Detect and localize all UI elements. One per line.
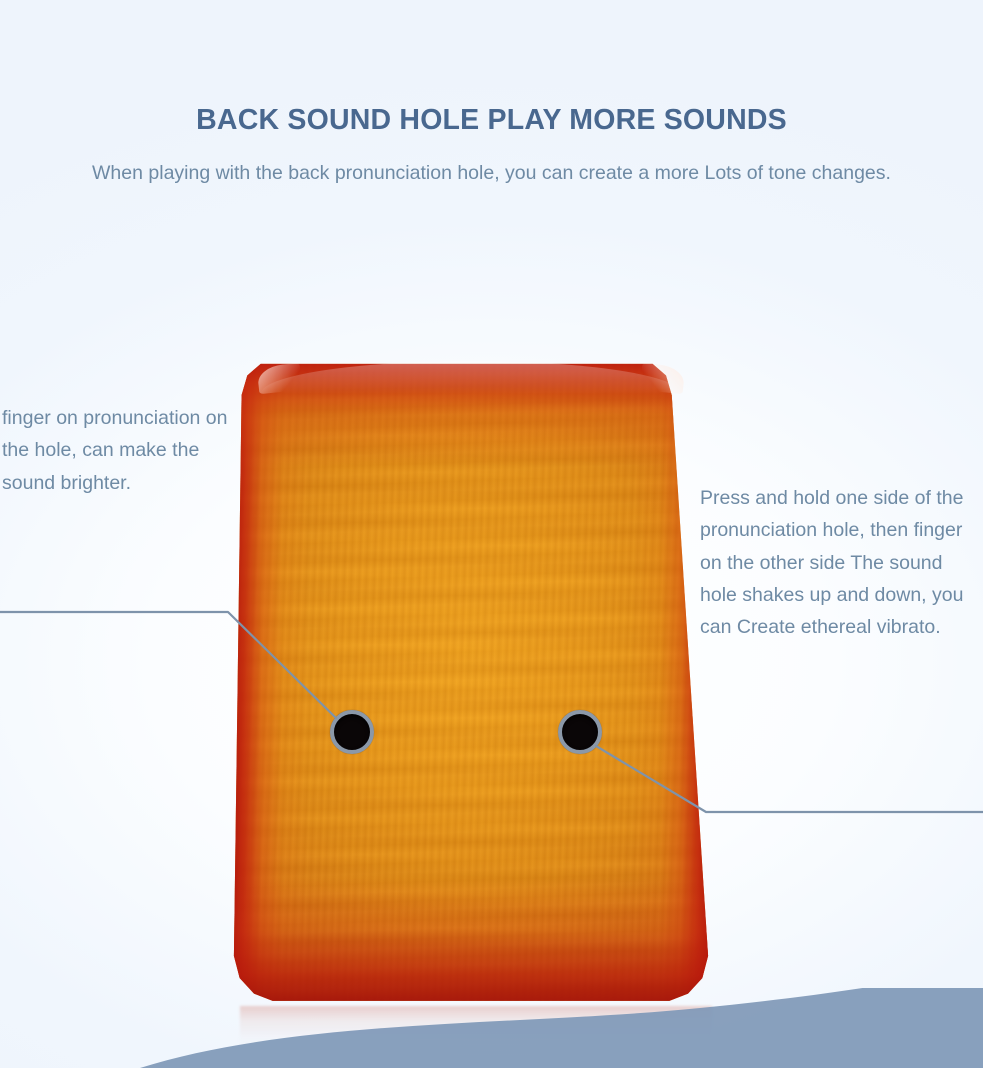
infographic-stage: BACK SOUND HOLE PLAY MORE SOUNDS When pl… [0,0,983,1068]
page-subtitle: When playing with the back pronunciation… [32,158,952,190]
annotation-left-text: finger on pronunciation on the hole, can… [0,402,232,499]
page-title: BACK SOUND HOLE PLAY MORE SOUNDS [0,105,983,136]
sound-hole-right-icon [558,710,602,754]
annotation-right-text: Press and hold one side of the pronuncia… [700,482,983,644]
kalimba-reflection [240,1006,712,1068]
kalimba-back-panel-image [232,356,710,1008]
header: BACK SOUND HOLE PLAY MORE SOUNDS When pl… [0,0,983,190]
sound-hole-left-icon [330,710,374,754]
kalimba-body [232,356,710,1008]
